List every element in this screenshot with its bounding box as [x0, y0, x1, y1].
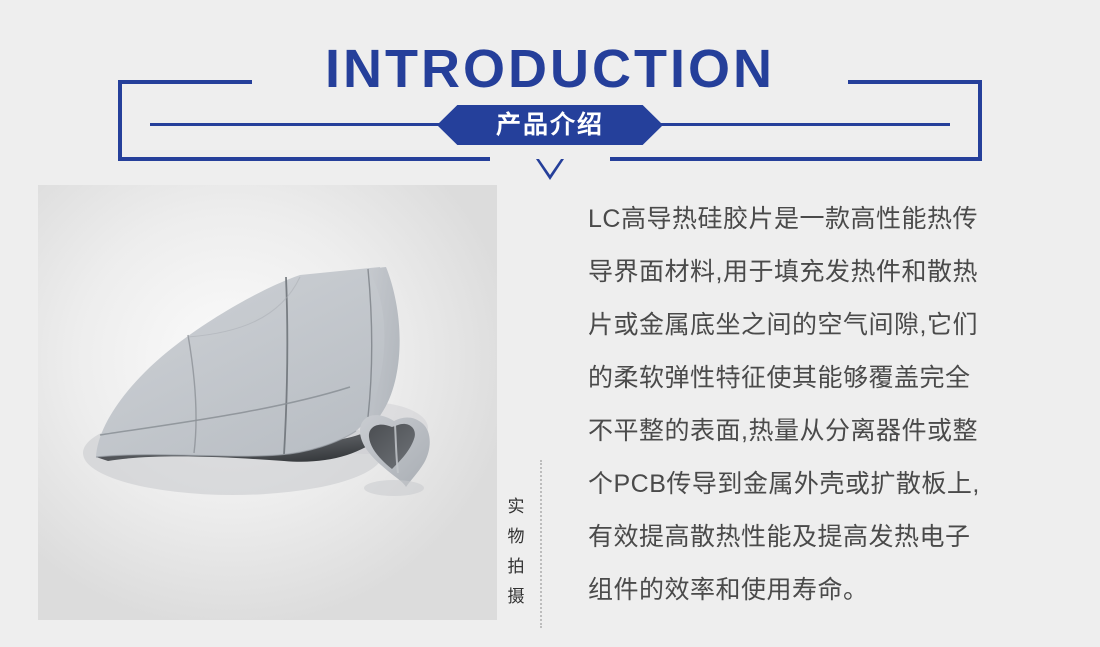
frame-line-bottom-right [610, 157, 982, 161]
frame-line-middle-left [150, 123, 447, 126]
caption-char: 物 [503, 522, 529, 552]
description-line: 不平整的表面,热量从分离器件或整 [588, 405, 1080, 458]
caption-char: 拍 [503, 552, 529, 582]
section-badge-label: 产品介绍 [496, 113, 604, 138]
frame-line-middle-right [653, 123, 950, 126]
triangle-down-icon-inner [539, 159, 561, 175]
caption-char: 摄 [503, 582, 529, 612]
frame-line-top-right [848, 80, 982, 84]
frame-line-top-left [118, 80, 252, 84]
description-line: 的柔软弹性特征使其能够覆盖完全 [588, 352, 1080, 405]
product-photo [38, 185, 497, 620]
product-photo-illustration [38, 185, 497, 620]
description-line: 导界面材料,用于填充发热件和散热 [588, 246, 1080, 299]
description-line: LC高导热硅胶片是一款高性能热传 [588, 193, 1080, 246]
page-title-english: INTRODUCTION [0, 40, 1100, 98]
section-badge: 产品介绍 [437, 105, 663, 145]
description-line: 有效提高散热性能及提高发热电子 [588, 511, 1080, 564]
page-header: INTRODUCTION 产品介绍 [0, 0, 1100, 185]
description-line: 个PCB传导到金属外壳或扩散板上, [588, 458, 1080, 511]
frame-line-left-vertical [118, 80, 122, 161]
caption-char: 实 [503, 492, 529, 522]
content-area: 实 物 拍 摄 LC高导热硅胶片是一款高性能热传 导界面材料,用于填充发热件和散… [0, 185, 1100, 647]
product-description: LC高导热硅胶片是一款高性能热传 导界面材料,用于填充发热件和散热 片或金属底坐… [588, 193, 1080, 617]
frame-line-right-vertical [978, 80, 982, 161]
vertical-divider [540, 460, 542, 628]
description-line: 片或金属底坐之间的空气间隙,它们 [588, 299, 1080, 352]
frame-line-bottom-left [118, 157, 490, 161]
description-line: 组件的效率和使用寿命。 [588, 564, 1080, 617]
photo-caption-vertical: 实 物 拍 摄 [503, 492, 529, 612]
